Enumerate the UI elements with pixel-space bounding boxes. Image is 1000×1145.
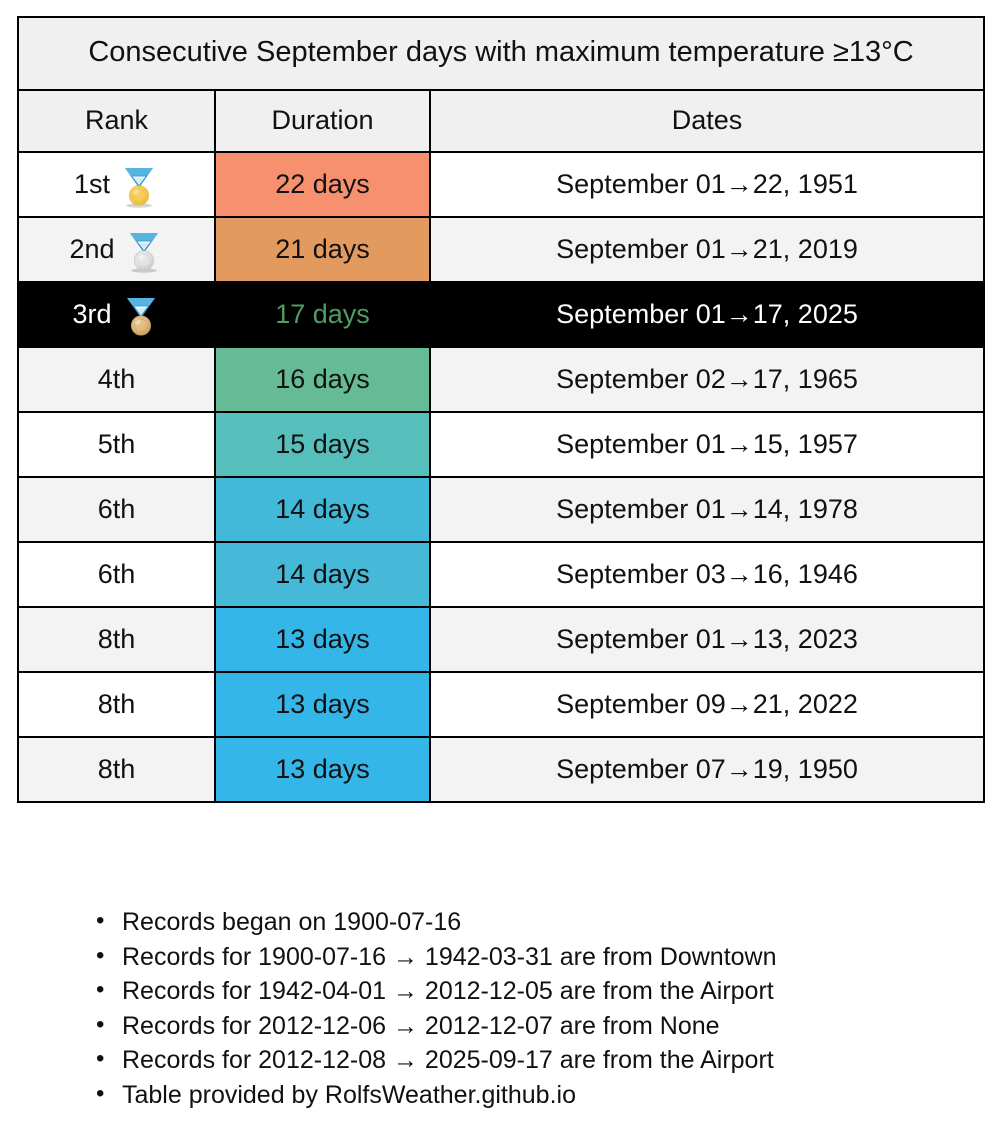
- footnote-item: Records for 2012-12-08 → 2025-09-17 are …: [96, 1043, 1000, 1078]
- rank-cell: 2nd: [18, 217, 215, 282]
- page-root: Consecutive September days with maximum …: [0, 0, 1000, 1145]
- column-header-duration: Duration: [215, 90, 430, 152]
- rank-label: 8th: [98, 689, 136, 720]
- rank-cell: 8th: [18, 672, 215, 737]
- table-row: 2nd21 daysSeptember 01→21, 2019: [18, 217, 984, 282]
- footnote-item: Records for 2012-12-06 → 2012-12-07 are …: [96, 1009, 1000, 1044]
- rank-cell: 4th: [18, 347, 215, 412]
- duration-cell: 21 days: [215, 217, 430, 282]
- duration-cell: 13 days: [215, 737, 430, 802]
- table-row: 1st22 daysSeptember 01→22, 1951: [18, 152, 984, 217]
- table-row: 6th14 daysSeptember 03→16, 1946: [18, 542, 984, 607]
- column-header-row: Rank Duration Dates: [18, 90, 984, 152]
- table-body: 1st22 daysSeptember 01→22, 19512nd21 day…: [18, 152, 984, 802]
- rank-content: 6th: [98, 559, 136, 590]
- rank-label: 3rd: [72, 299, 111, 330]
- duration-value: 14 days: [216, 543, 429, 606]
- dates-cell: September 09→21, 2022: [430, 672, 984, 737]
- rank-content: 4th: [98, 364, 136, 395]
- dates-cell: September 01→22, 1951: [430, 152, 984, 217]
- gold-medal-icon: [119, 165, 159, 209]
- dates-cell: September 01→14, 1978: [430, 477, 984, 542]
- bronze-medal-icon: [121, 295, 161, 339]
- rank-cell: 8th: [18, 607, 215, 672]
- footnote-list: Records began on 1900-07-16Records for 1…: [0, 905, 1000, 1112]
- rank-label: 4th: [98, 364, 136, 395]
- rank-cell: 6th: [18, 477, 215, 542]
- duration-value: 13 days: [216, 738, 429, 801]
- rank-content: 6th: [98, 494, 136, 525]
- dates-cell: September 01→13, 2023: [430, 607, 984, 672]
- dates-cell: September 01→17, 2025: [430, 282, 984, 347]
- rank-content: 8th: [98, 624, 136, 655]
- table-row: 8th13 daysSeptember 09→21, 2022: [18, 672, 984, 737]
- rank-cell: 1st: [18, 152, 215, 217]
- footnote-item: Records for 1942-04-01 → 2012-12-05 are …: [96, 974, 1000, 1009]
- footnote-item: Records for 1900-07-16 → 1942-03-31 are …: [96, 940, 1000, 975]
- duration-cell: 16 days: [215, 347, 430, 412]
- dates-cell: September 07→19, 1950: [430, 737, 984, 802]
- rank-cell: 6th: [18, 542, 215, 607]
- footnote-item: Records began on 1900-07-16: [96, 905, 1000, 940]
- table-row: 3rd17 daysSeptember 01→17, 2025: [18, 282, 984, 347]
- table-row: 8th13 daysSeptember 07→19, 1950: [18, 737, 984, 802]
- duration-value: 16 days: [216, 348, 429, 411]
- footnotes: Records began on 1900-07-16Records for 1…: [0, 905, 1000, 1112]
- duration-cell: 17 days: [215, 282, 430, 347]
- duration-value: 17 days: [216, 283, 429, 346]
- records-table: Consecutive September days with maximum …: [17, 16, 985, 803]
- table-row: 4th16 daysSeptember 02→17, 1965: [18, 347, 984, 412]
- rank-label: 2nd: [69, 234, 114, 265]
- column-header-dates: Dates: [430, 90, 984, 152]
- rank-content: 1st: [74, 163, 159, 207]
- table-head: Consecutive September days with maximum …: [18, 17, 984, 152]
- dates-cell: September 01→15, 1957: [430, 412, 984, 477]
- rank-label: 6th: [98, 559, 136, 590]
- rank-content: 8th: [98, 754, 136, 785]
- duration-value: 13 days: [216, 673, 429, 736]
- dates-cell: September 02→17, 1965: [430, 347, 984, 412]
- silver-medal-icon: [124, 230, 164, 274]
- dates-cell: September 01→21, 2019: [430, 217, 984, 282]
- rank-content: 8th: [98, 689, 136, 720]
- rank-content: 2nd: [69, 228, 163, 272]
- duration-cell: 14 days: [215, 542, 430, 607]
- rank-cell: 3rd: [18, 282, 215, 347]
- duration-cell: 13 days: [215, 672, 430, 737]
- table-row: 6th14 daysSeptember 01→14, 1978: [18, 477, 984, 542]
- rank-label: 8th: [98, 754, 136, 785]
- duration-value: 21 days: [216, 218, 429, 281]
- rank-cell: 8th: [18, 737, 215, 802]
- title-row: Consecutive September days with maximum …: [18, 17, 984, 90]
- duration-cell: 15 days: [215, 412, 430, 477]
- rank-content: 3rd: [72, 293, 160, 337]
- table-title: Consecutive September days with maximum …: [18, 17, 984, 90]
- rank-label: 6th: [98, 494, 136, 525]
- duration-value: 14 days: [216, 478, 429, 541]
- footnote-item: Table provided by RolfsWeather.github.io: [96, 1078, 1000, 1113]
- table-row: 8th13 daysSeptember 01→13, 2023: [18, 607, 984, 672]
- rank-label: 1st: [74, 169, 110, 200]
- duration-cell: 14 days: [215, 477, 430, 542]
- duration-cell: 13 days: [215, 607, 430, 672]
- rank-label: 5th: [98, 429, 136, 460]
- table-row: 5th15 daysSeptember 01→15, 1957: [18, 412, 984, 477]
- dates-cell: September 03→16, 1946: [430, 542, 984, 607]
- duration-cell: 22 days: [215, 152, 430, 217]
- duration-value: 15 days: [216, 413, 429, 476]
- rank-label: 8th: [98, 624, 136, 655]
- rank-content: 5th: [98, 429, 136, 460]
- duration-value: 13 days: [216, 608, 429, 671]
- column-header-rank: Rank: [18, 90, 215, 152]
- duration-value: 22 days: [216, 153, 429, 216]
- records-table-container: Consecutive September days with maximum …: [17, 16, 983, 803]
- rank-cell: 5th: [18, 412, 215, 477]
